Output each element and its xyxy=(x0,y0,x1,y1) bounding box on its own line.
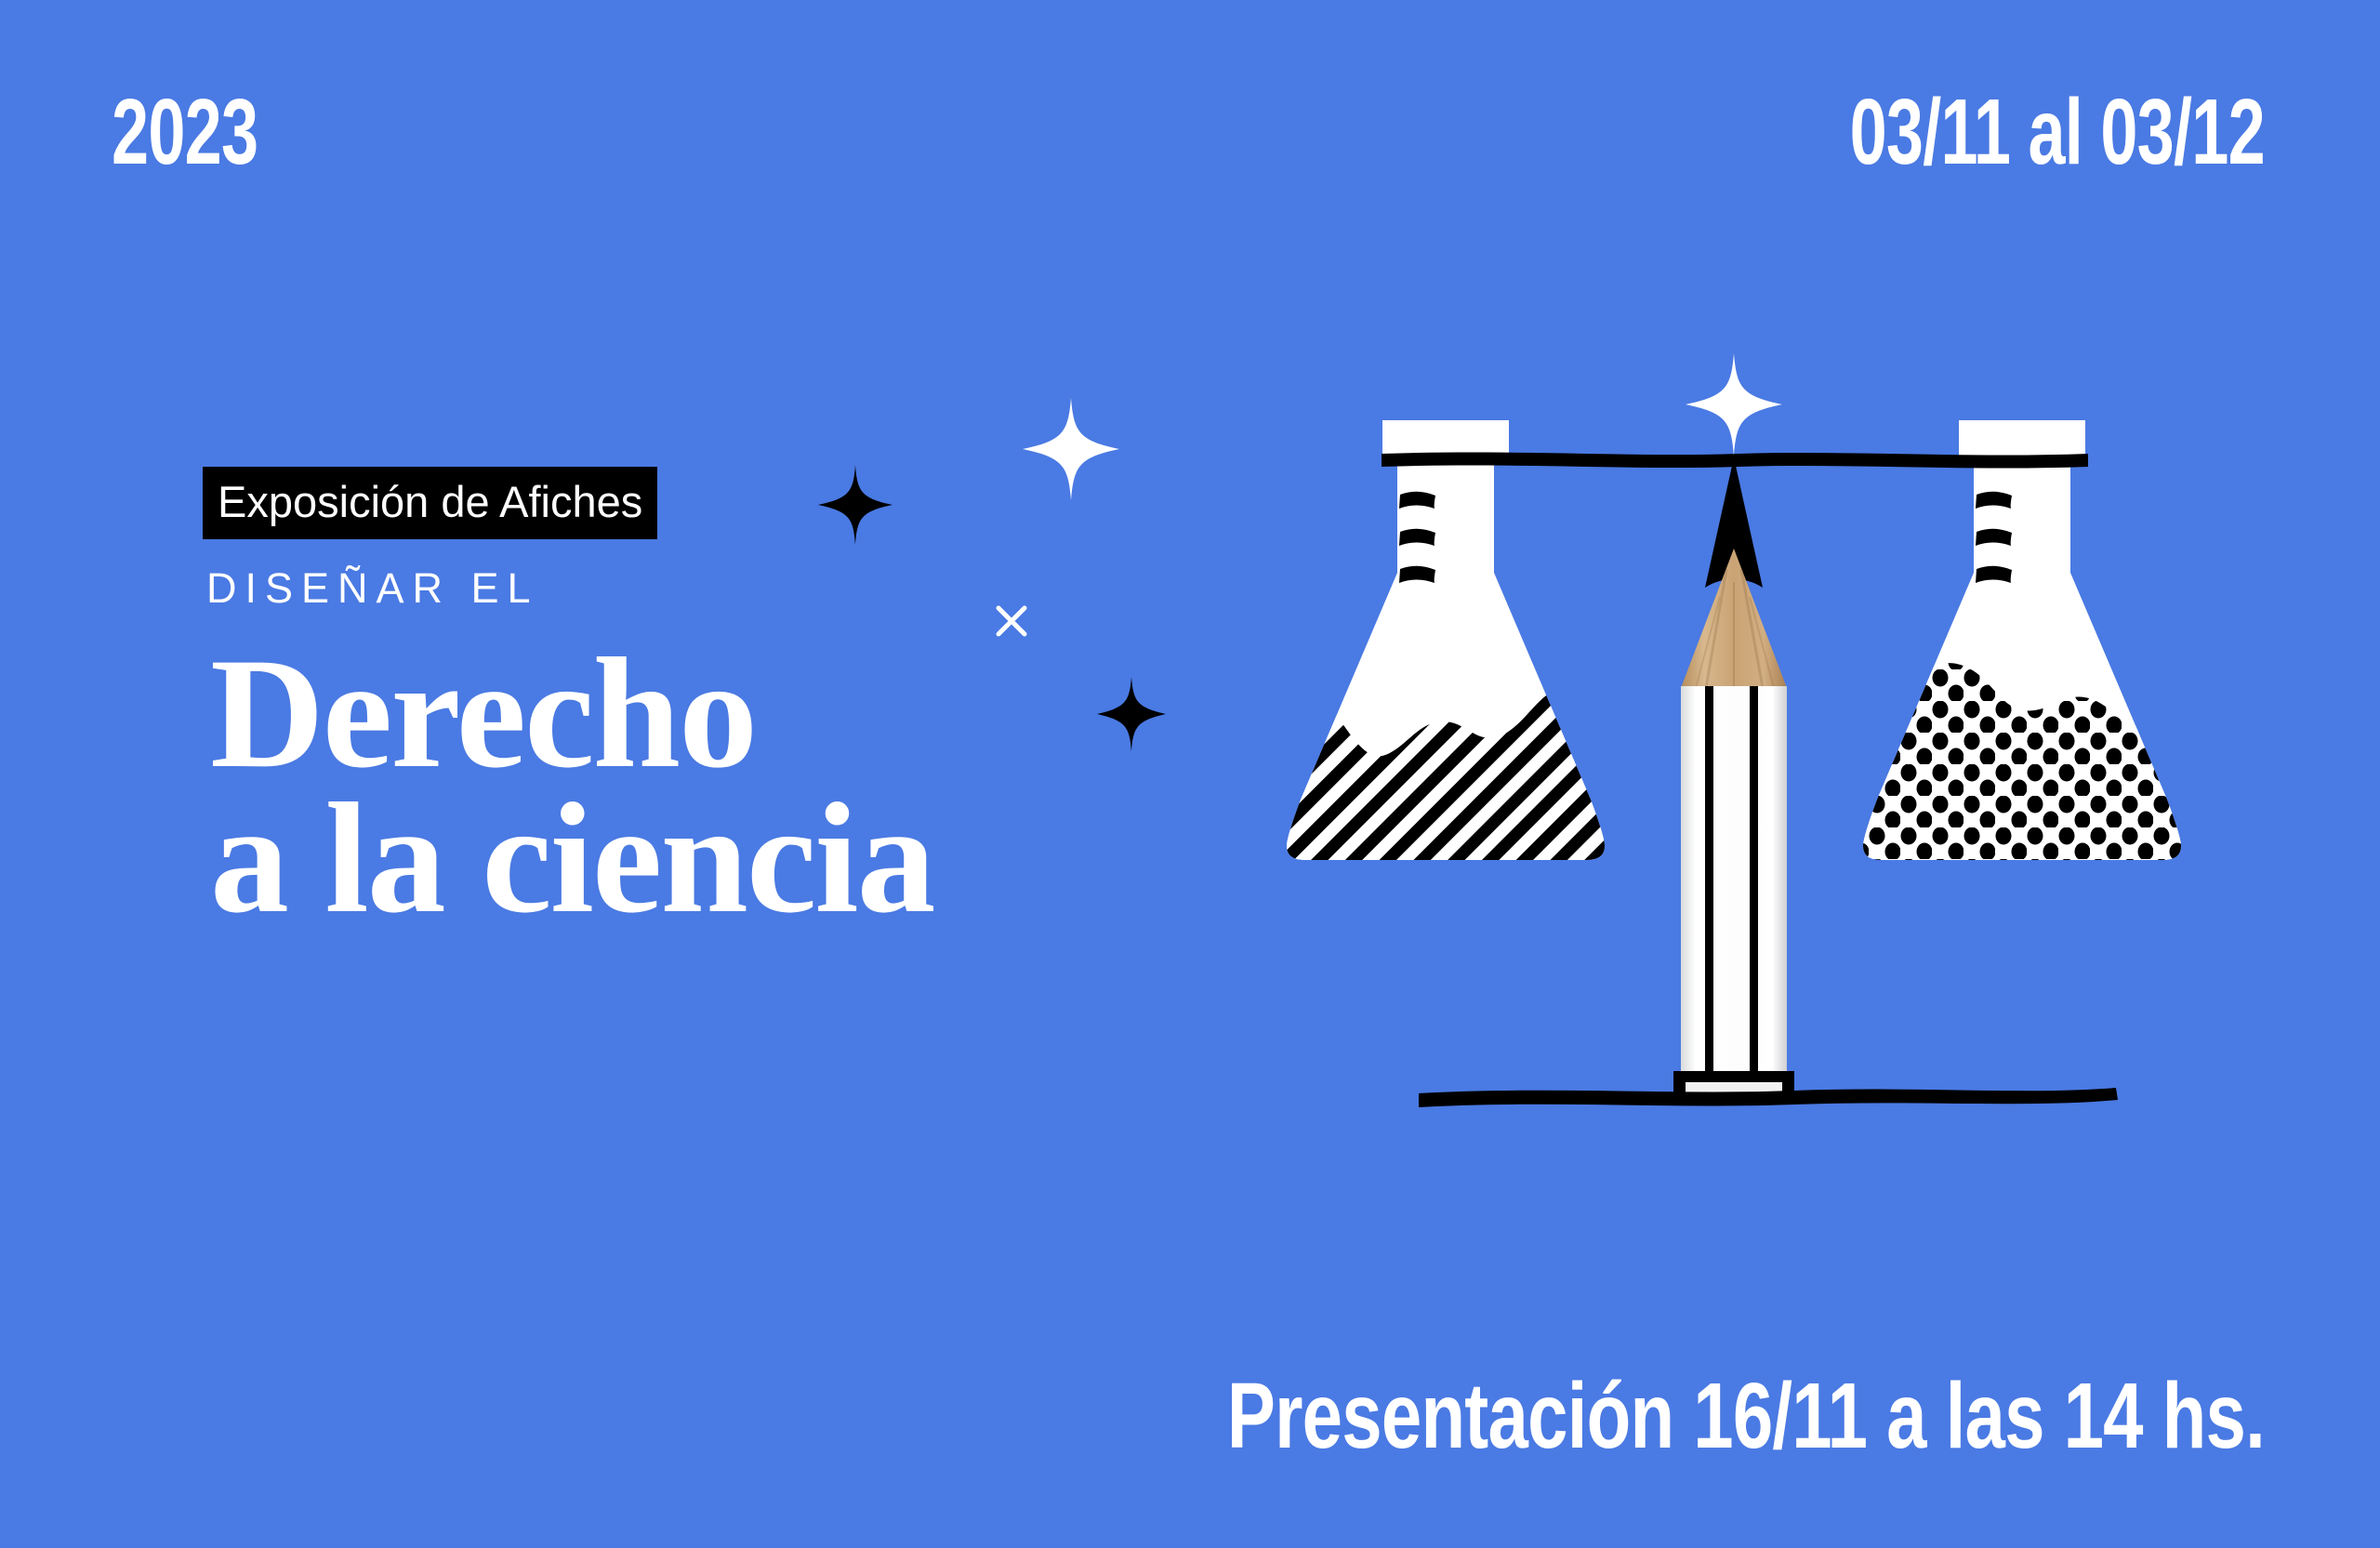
sparkle-beam-icon xyxy=(1686,353,1782,456)
left-flask-rim xyxy=(1382,420,1509,457)
left-flask-graduations xyxy=(1399,492,1435,583)
year-label: 2023 xyxy=(112,86,258,179)
balance-scale-illustration xyxy=(1236,353,2278,1171)
pencil-fulcrum xyxy=(1673,457,1794,1103)
right-flask-rim xyxy=(1959,420,2085,457)
right-flask-graduations xyxy=(1976,492,2012,583)
page-title-line-2: a la ciencia xyxy=(210,788,1225,928)
poster-canvas: 2023 03/11 al 03/12 Exposición de Afiche… xyxy=(0,0,2380,1548)
left-flask xyxy=(1255,420,1620,911)
headline-block: Exposición de Afiches DISEÑAR EL Derecho… xyxy=(203,467,1225,928)
presentation-label: Presentación 16/11 a las 14 hs. xyxy=(1227,1368,2265,1464)
page-title-line-1: Derecho xyxy=(210,643,1225,783)
eyebrow-label: DISEÑAR EL xyxy=(206,565,1225,612)
pencil-barrel xyxy=(1681,686,1787,1075)
date-range-label: 03/11 al 03/12 xyxy=(1850,86,2265,179)
pencil-facet-line-left xyxy=(1705,686,1713,1075)
kicker-badge: Exposición de Afiches xyxy=(203,467,657,539)
right-flask xyxy=(1831,420,2203,911)
pencil-facet-line-right xyxy=(1750,686,1758,1075)
